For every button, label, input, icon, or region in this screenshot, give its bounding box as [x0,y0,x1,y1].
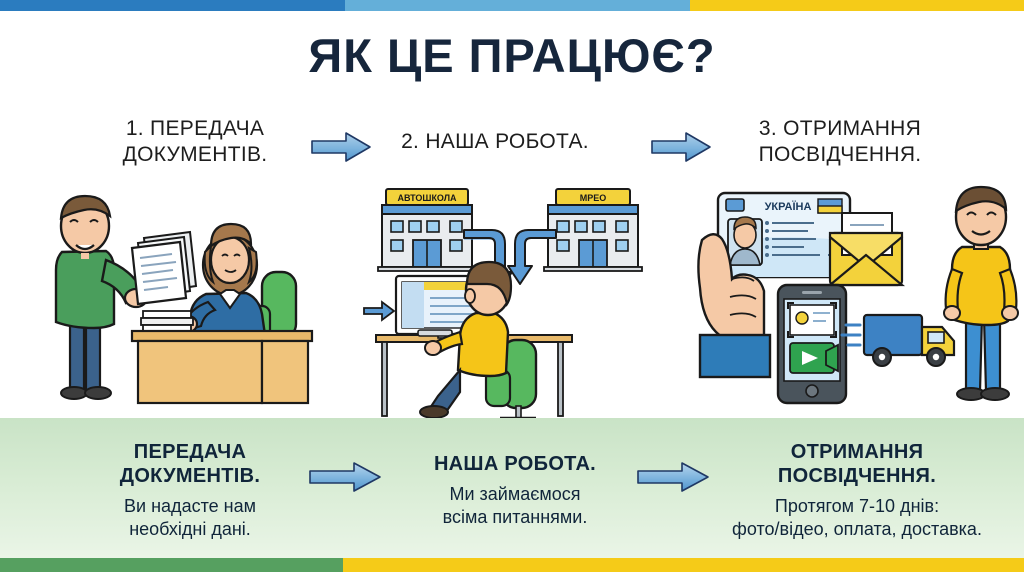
summary-band: ПЕРЕДАЧА ДОКУМЕНТІВ. Ви надасте нам необ… [0,418,1024,558]
building-left-sign-text: АВТОШКОЛА [397,193,457,203]
summary-2-sub-line1: Ми займаємося [370,483,660,506]
building-mreo: МРЕО [544,189,642,271]
happy-man-figure [944,187,1018,400]
building-right-sign-text: МРЕО [580,193,607,203]
summary-1-head-line1: ПЕРЕДАЧА [45,440,335,464]
summary-1-head: ПЕРЕДАЧА ДОКУМЕНТІВ. [45,440,335,488]
building-driving-school: АВТОШКОЛА [378,189,476,271]
step-header-1-line1: 1. ПЕРЕДАЧА [55,116,335,142]
smartphone-video-icon [778,285,846,403]
summary-column-2: НАША РОБОТА. Ми займаємося всіма питання… [370,452,660,529]
step-header-row: 1. ПЕРЕДАЧА ДОКУМЕНТІВ. 2. НАША РОБОТА. [0,116,1024,172]
summary-2-head: НАША РОБОТА. [370,452,660,476]
top-bar-segment-yellow [690,0,1024,11]
illustration-scene: АВТОШКОЛА МРЕО [0,180,1024,420]
summary-2-head-line1: НАША РОБОТА. [370,452,660,476]
step-header-3-line2: ПОСВІДЧЕННЯ. [690,142,990,168]
bottom-bar-segment-yellow [343,558,1024,572]
scene-document-handover [40,190,330,420]
step-header-1: 1. ПЕРЕДАЧА ДОКУМЕНТІВ. [55,116,335,168]
scene-our-work: АВТОШКОЛА МРЕО [360,180,650,420]
summary-1-sub-line2: необхідні дані. [45,518,335,541]
side-arrow-left-icon [364,302,394,320]
summary-3-sub-line2: фото/відео, оплата, доставка. [690,518,1024,541]
summary-3-head: ОТРИМАННЯ ПОСВІДЧЕННЯ. [690,440,1024,488]
scene-man-at-computer [376,262,572,420]
summary-3-head-line1: ОТРИМАННЯ [690,440,1024,464]
top-bar-segment-light-blue [345,0,690,11]
summary-2-sub-line2: всіма питаннями. [370,506,660,529]
books-stack-icon [141,311,193,332]
standing-man-figure [56,196,147,399]
step-header-3: 3. ОТРИМАННЯ ПОСВІДЧЕННЯ. [690,116,990,168]
summary-1-sub: Ви надасте нам необхідні дані. [45,495,335,541]
documents-stack-icon [132,232,196,304]
summary-column-1: ПЕРЕДАЧА ДОКУМЕНТІВ. Ви надасте нам необ… [45,440,335,541]
summary-2-sub: Ми займаємося всіма питаннями. [370,483,660,529]
bottom-bar-segment-green [0,558,343,572]
infographic-page: ЯК ЦЕ ПРАЦЮЄ? 1. ПЕРЕДАЧА ДОКУМЕНТІВ. 2.… [0,0,1024,572]
bottom-flag-bar [0,558,1024,572]
summary-3-sub: Протягом 7-10 днів: фото/відео, оплата, … [690,495,1024,541]
summary-1-sub-line1: Ви надасте нам [45,495,335,518]
summary-column-3: ОТРИМАННЯ ПОСВІДЧЕННЯ. Протягом 7-10 дні… [690,440,1024,541]
id-card-country-text: УКРАЇНА [765,200,812,213]
step-header-2: 2. НАША РОБОТА. [355,129,635,155]
step-header-2-line1: 2. НАША РОБОТА. [355,129,635,155]
summary-3-head-line2: ПОСВІДЧЕННЯ. [690,464,1024,488]
wooden-desk [132,331,312,403]
page-title: ЯК ЦЕ ПРАЦЮЄ? [0,28,1024,83]
summary-3-sub-line1: Протягом 7-10 днів: [690,495,1024,518]
step-header-1-line2: ДОКУМЕНТІВ. [55,142,335,168]
step-header-3-line1: 3. ОТРИМАННЯ [690,116,990,142]
summary-1-head-line2: ДОКУМЕНТІВ. [45,464,335,488]
top-flag-bar [0,0,1024,11]
scene-receive-licence: УКРАЇНА [680,185,1024,415]
delivery-truck-icon [842,315,954,366]
top-bar-segment-dark-blue [0,0,345,11]
